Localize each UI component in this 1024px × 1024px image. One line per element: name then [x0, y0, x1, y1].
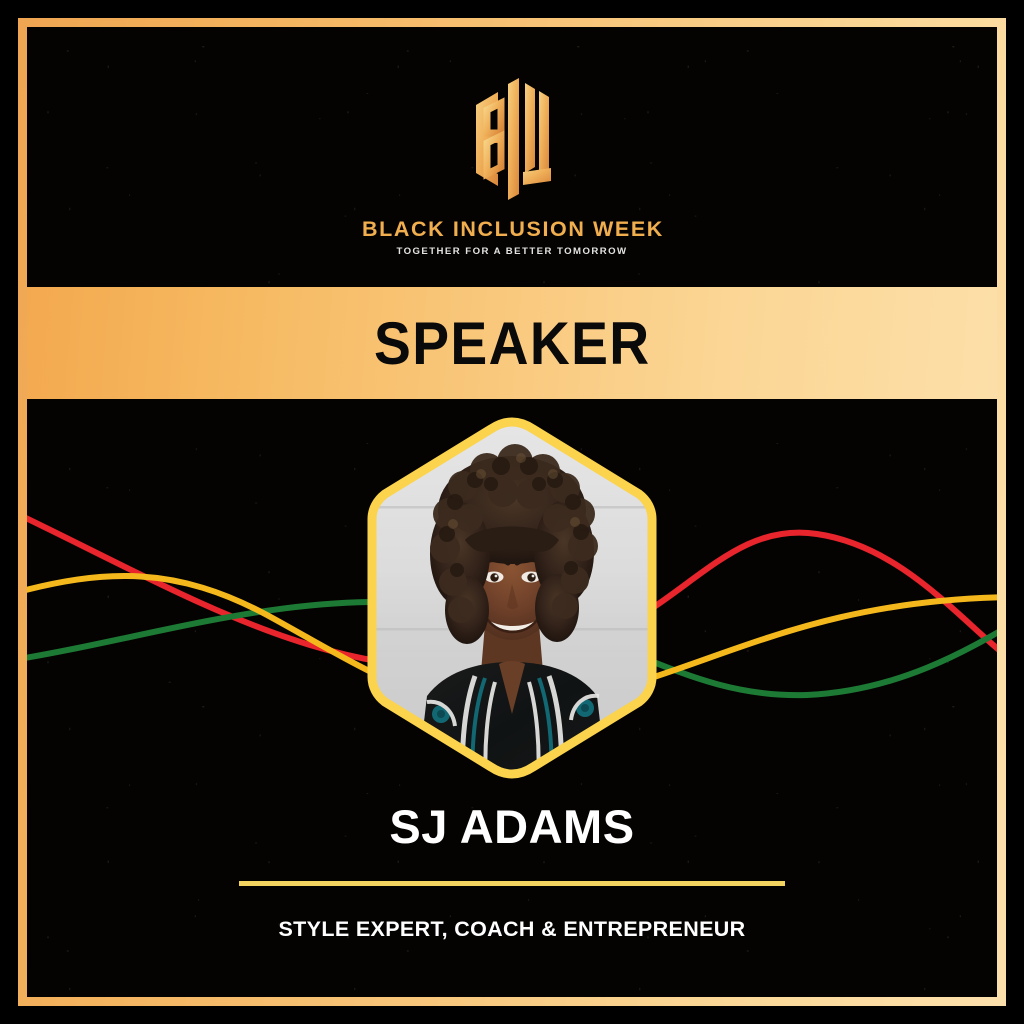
brand-logo-block: BLACK INCLUSION WEEK TOGETHER FOR A BETT…	[362, 75, 662, 257]
brand-tagline: TOGETHER FOR A BETTER TOMORROW	[362, 246, 662, 257]
speaker-role: STYLE EXPERT, COACH & ENTREPRENEUR	[27, 917, 997, 942]
poster-inner-canvas: BLACK INCLUSION WEEK TOGETHER FOR A BETT…	[27, 27, 997, 997]
biw-hexagon-monogram-icon	[453, 75, 571, 203]
poster-header: BLACK INCLUSION WEEK TOGETHER FOR A BETT…	[27, 27, 997, 287]
brand-name: BLACK INCLUSION WEEK	[362, 217, 662, 242]
poster-gold-frame: BLACK INCLUSION WEEK TOGETHER FOR A BETT…	[18, 18, 1006, 1006]
name-divider	[239, 881, 785, 886]
poster-stage: SJ ADAMS STYLE EXPERT, COACH & ENTREPREN…	[27, 399, 997, 997]
speaker-name: SJ ADAMS	[27, 799, 997, 854]
banner-title: SPEAKER	[374, 309, 651, 378]
speaker-banner: SPEAKER	[27, 287, 997, 399]
speaker-portrait-hexagon	[357, 414, 667, 782]
speaker-portrait	[357, 414, 667, 782]
speaker-announcement-poster: BLACK INCLUSION WEEK TOGETHER FOR A BETT…	[0, 0, 1024, 1024]
